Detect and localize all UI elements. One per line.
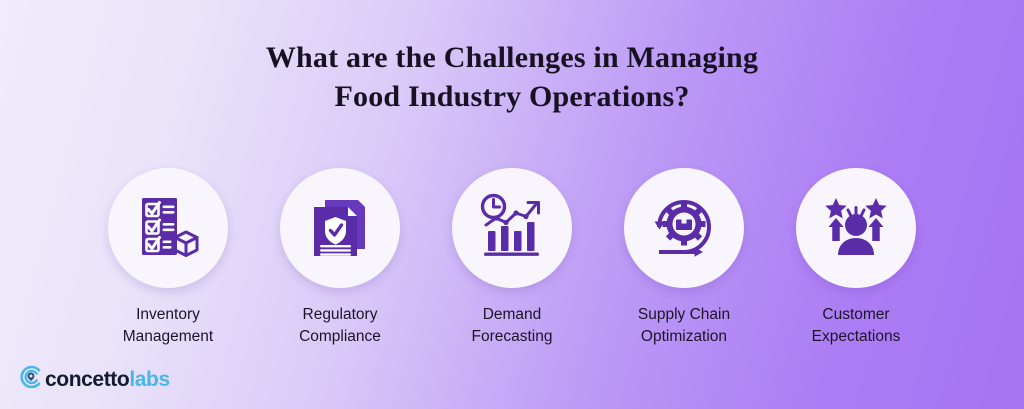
title-line-1: What are the Challenges in Managing bbox=[0, 38, 1024, 77]
challenge-item-supply-chain-optimization: Supply Chain Optimization bbox=[598, 168, 770, 348]
infographic-banner: What are the Challenges in Managing Food… bbox=[0, 0, 1024, 409]
logo-word-labs: labs bbox=[129, 368, 169, 391]
challenge-label: Inventory Management bbox=[123, 304, 213, 348]
icon-circle-customer bbox=[796, 168, 916, 288]
person-stars-arrows-icon bbox=[819, 191, 893, 265]
challenge-label: Regulatory Compliance bbox=[299, 304, 381, 348]
clipboard-checklist-box-icon bbox=[131, 191, 205, 265]
icon-circle-supply-chain bbox=[624, 168, 744, 288]
challenge-label: Demand Forecasting bbox=[472, 304, 553, 348]
challenges-list: Inventory Management bbox=[82, 168, 942, 348]
logo-word-concetto: concetto bbox=[45, 368, 129, 391]
challenge-item-demand-forecasting: Demand Forecasting bbox=[426, 168, 598, 348]
challenge-label: Supply Chain Optimization bbox=[638, 304, 730, 348]
challenge-item-regulatory-compliance: Regulatory Compliance bbox=[254, 168, 426, 348]
gear-loop-arrow-icon bbox=[647, 191, 721, 265]
concetto-circle-mark-icon bbox=[18, 364, 44, 395]
icon-circle-regulatory bbox=[280, 168, 400, 288]
clock-bar-chart-trend-icon bbox=[475, 191, 549, 265]
document-shield-check-icon bbox=[303, 191, 377, 265]
page-title: What are the Challenges in Managing Food… bbox=[0, 38, 1024, 116]
challenge-item-customer-expectations: Customer Expectations bbox=[770, 168, 942, 348]
concetto-labs-logo[interactable]: concettolabs bbox=[18, 364, 170, 395]
icon-circle-demand bbox=[452, 168, 572, 288]
challenge-label: Customer Expectations bbox=[812, 304, 901, 348]
title-line-2: Food Industry Operations? bbox=[0, 77, 1024, 116]
icon-circle-inventory bbox=[108, 168, 228, 288]
challenge-item-inventory-management: Inventory Management bbox=[82, 168, 254, 348]
